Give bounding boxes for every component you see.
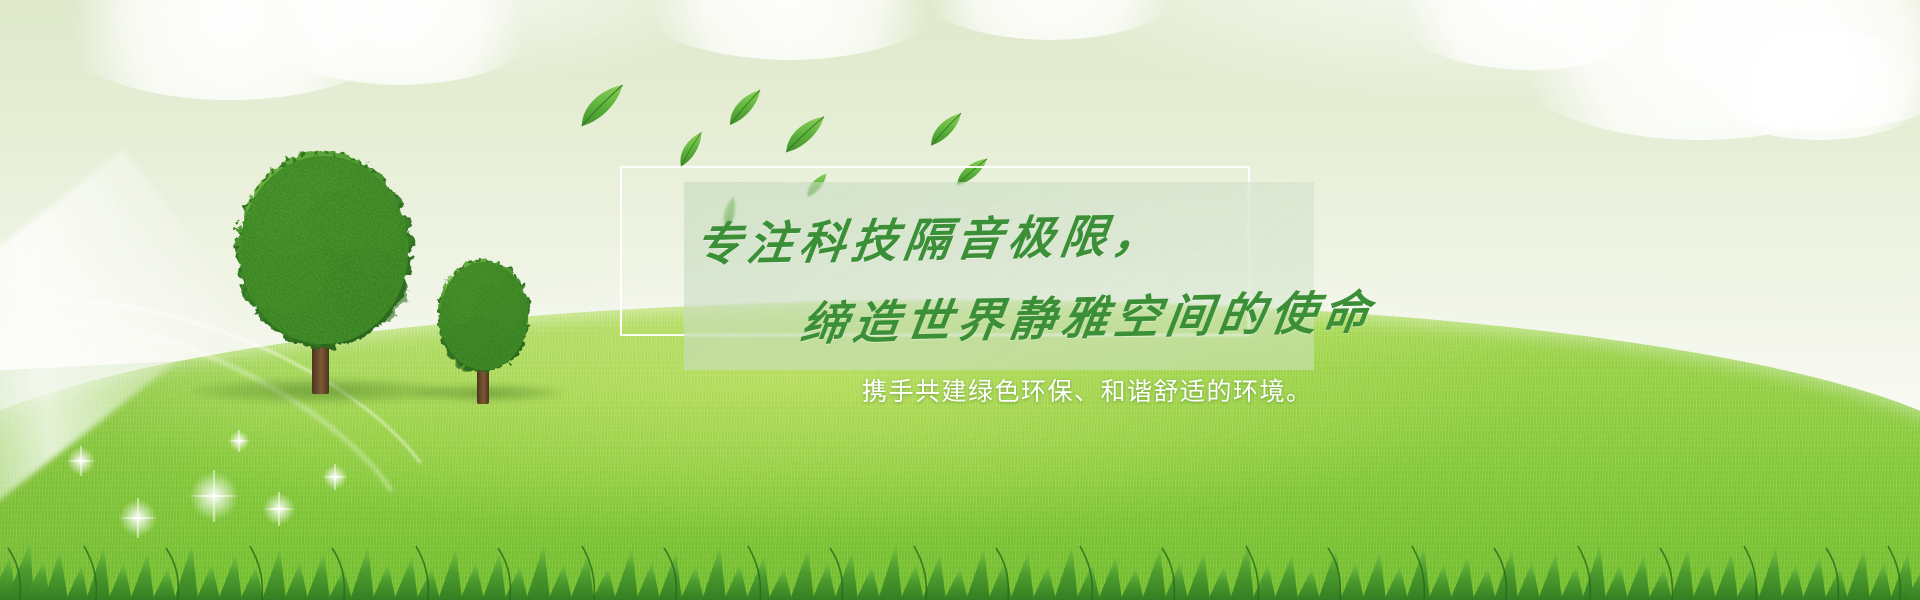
small-tree <box>432 258 536 406</box>
headline-line-2: 缔造世界静雅空间的使命 <box>798 290 1378 348</box>
tree-canopy <box>432 258 536 380</box>
tree-canopy <box>228 150 420 356</box>
subtitle: 携手共建绿色环保、和谐舒适的环境。 <box>862 372 1313 408</box>
headline-line-1: 专注科技隔音极限， <box>692 213 1168 269</box>
hero-banner: 专注科技隔音极限， 缔造世界静雅空间的使命 携手共建绿色环保、和谐舒适的环境。 <box>0 0 1920 600</box>
canopy-shape <box>228 150 420 356</box>
canopy-shape <box>432 258 536 380</box>
large-tree <box>228 150 420 402</box>
grass-fringe <box>0 534 1920 600</box>
headline: 专注科技隔音极限， 缔造世界静雅空间的使命 <box>660 196 1260 336</box>
grass-blades-icon <box>0 534 1920 600</box>
